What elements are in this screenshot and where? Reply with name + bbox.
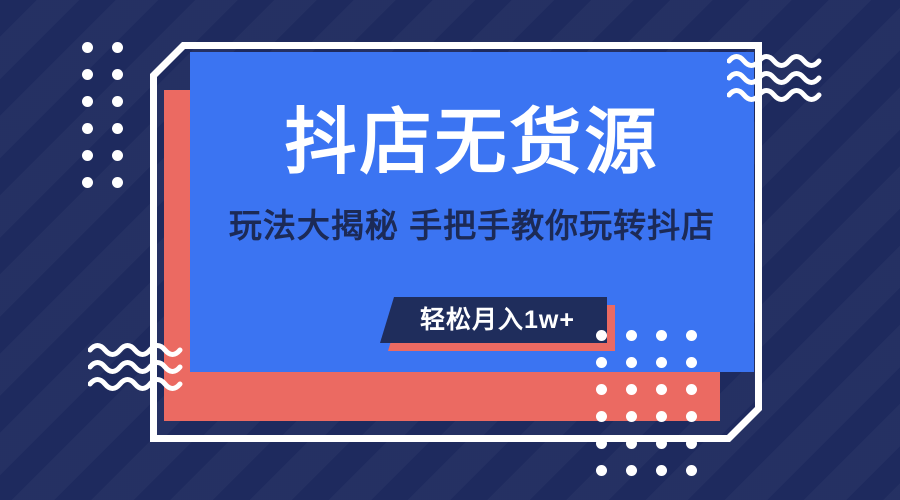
dot-icon bbox=[686, 465, 697, 476]
dot-icon bbox=[596, 465, 607, 476]
badge-body: 轻松月入1w+ bbox=[380, 297, 607, 343]
dot-icon bbox=[82, 150, 93, 161]
blue-content-card: 抖店无货源 玩法大揭秘 手把手教你玩转抖店 轻松月入1w+ bbox=[190, 52, 754, 372]
highlight-badge: 轻松月入1w+ bbox=[380, 297, 615, 351]
text-block: 抖店无货源 玩法大揭秘 手把手教你玩转抖店 轻松月入1w+ bbox=[190, 52, 754, 372]
badge-label: 轻松月入1w+ bbox=[412, 308, 575, 333]
dot-icon bbox=[112, 42, 123, 53]
dot-icon bbox=[112, 150, 123, 161]
dot-icon bbox=[82, 123, 93, 134]
dot-icon bbox=[112, 69, 123, 80]
promo-poster: 抖店无货源 玩法大揭秘 手把手教你玩转抖店 轻松月入1w+ bbox=[0, 0, 900, 500]
dot-icon bbox=[82, 96, 93, 107]
dot-icon bbox=[82, 42, 93, 53]
dot-icon bbox=[656, 465, 667, 476]
dot-icon bbox=[82, 177, 93, 188]
dot-icon bbox=[112, 123, 123, 134]
dot-grid-icon-left bbox=[82, 42, 123, 188]
main-title: 抖店无货源 bbox=[190, 107, 754, 179]
subtitle: 玩法大揭秘 手把手教你玩转抖店 bbox=[226, 204, 718, 249]
dot-icon bbox=[112, 96, 123, 107]
framed-card: 抖店无货源 玩法大揭秘 手把手教你玩转抖店 轻松月入1w+ bbox=[150, 42, 762, 442]
dot-icon bbox=[626, 465, 637, 476]
dot-icon bbox=[112, 177, 123, 188]
dot-icon bbox=[82, 69, 93, 80]
